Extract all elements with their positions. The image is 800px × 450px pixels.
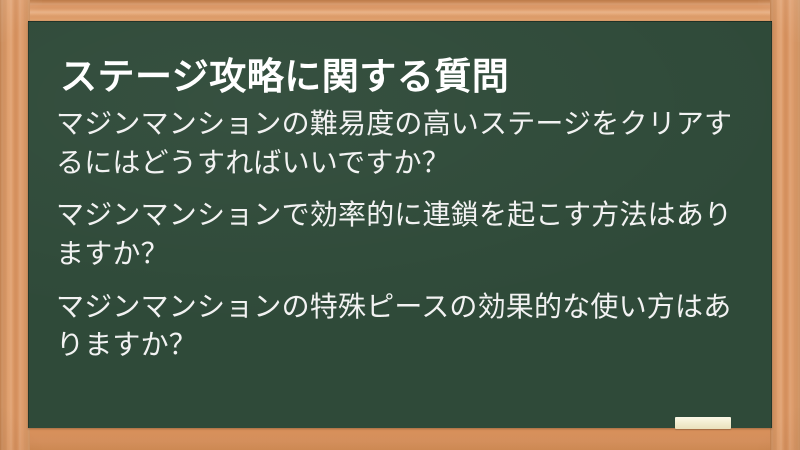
question-list: マジンマンションの難易度の高いステージをクリアするにはどうすればいいですか？ マ… (56, 105, 754, 365)
frame-rail-left (0, 0, 30, 450)
frame-rail-top (0, 0, 800, 22)
slide-title: ステージ攻略に関する質問 (60, 54, 509, 101)
chalkboard-slide: ステージ攻略に関する質問 マジンマンションの難易度の高いステージをクリアするには… (0, 0, 800, 450)
question-item: マジンマンションの特殊ピースの効果的な使い方はありますか？ (56, 288, 754, 365)
frame-rail-right (770, 0, 800, 450)
chalk-stick-icon (675, 417, 731, 429)
frame-rail-bottom (0, 428, 800, 450)
question-item: マジンマンションの難易度の高いステージをクリアするにはどうすればいいですか？ (56, 105, 754, 182)
chalkboard-surface: ステージ攻略に関する質問 マジンマンションの難易度の高いステージをクリアするには… (28, 21, 772, 428)
question-item: マジンマンションで効率的に連鎖を起こす方法はありますか？ (56, 196, 754, 273)
